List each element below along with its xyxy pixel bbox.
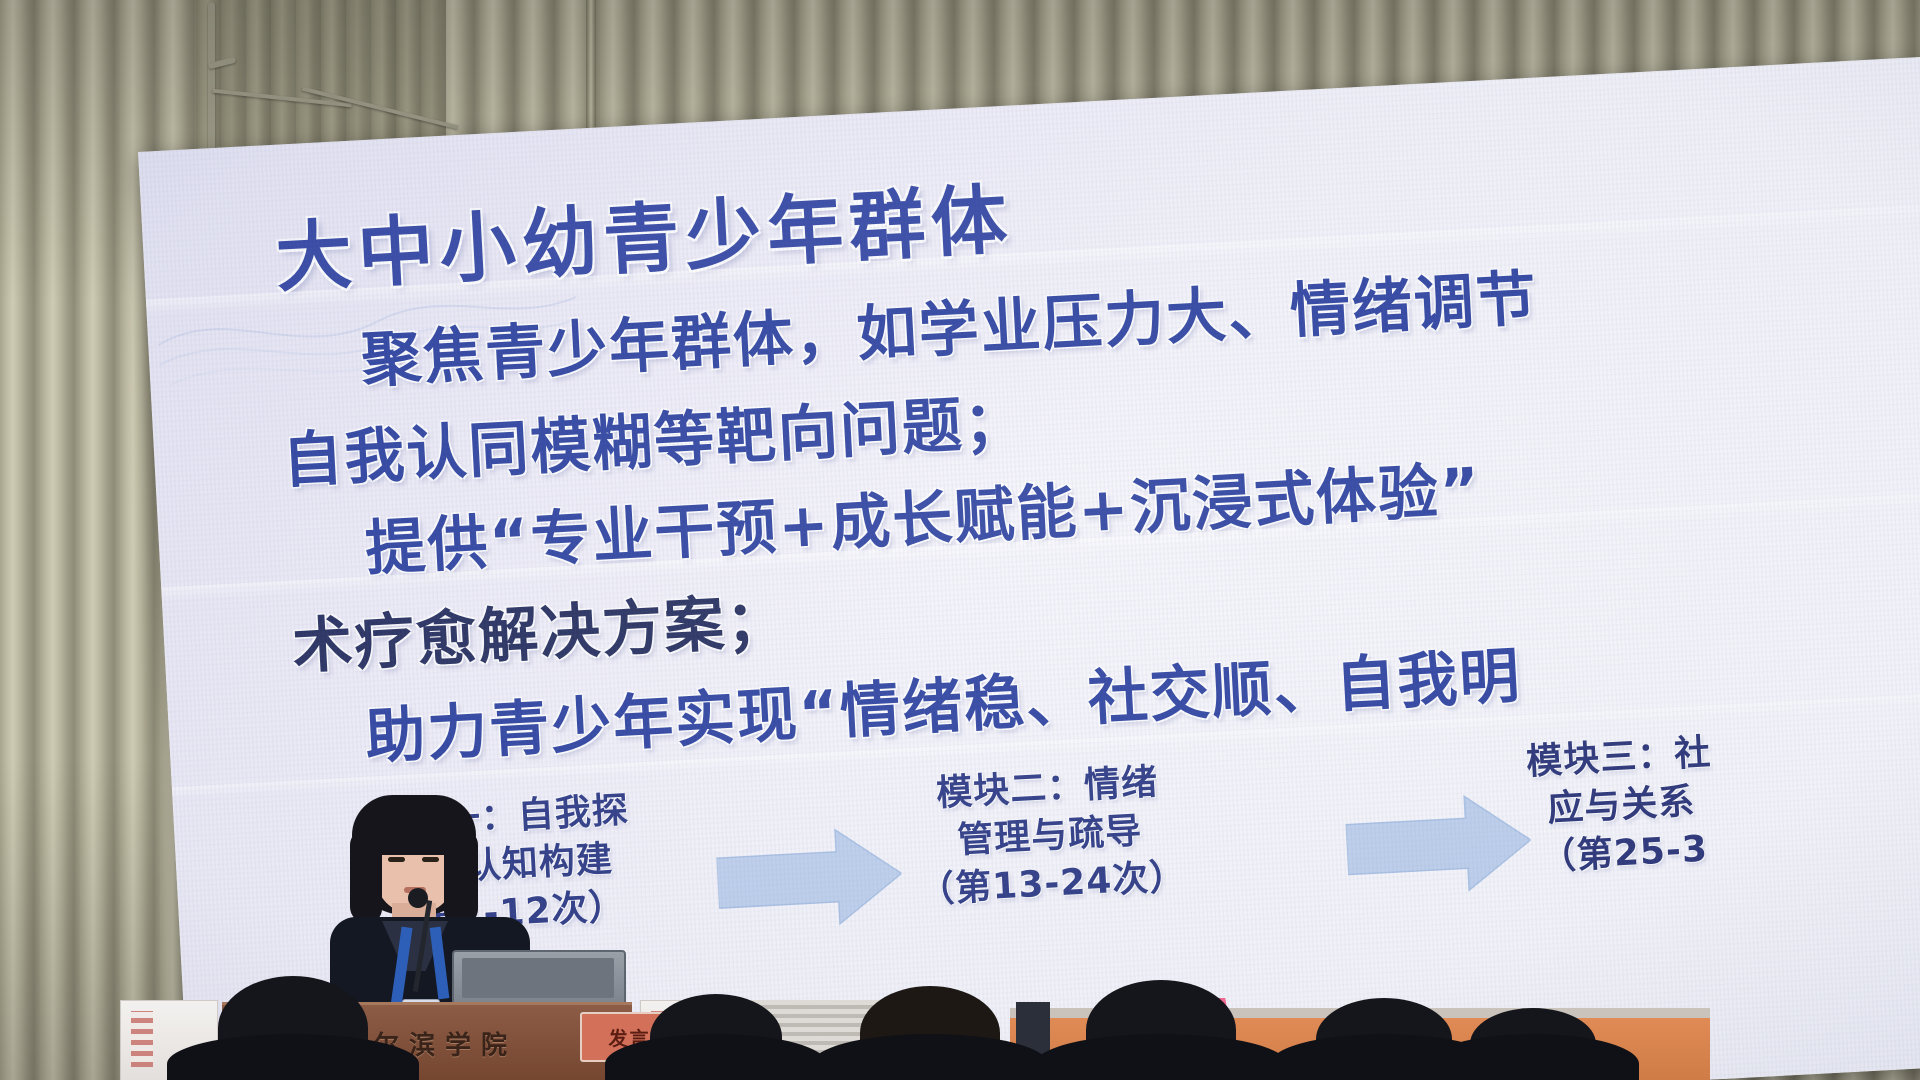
- module-3-sessions: （第25-3: [1530, 826, 1717, 884]
- module-card-2: 模块二：情绪 管理与疏导 （第13-24次）: [912, 757, 1187, 916]
- slide-content: 大中小幼青少年群体 聚焦青少年群体，如学业压力大、情绪调节 自我认同模糊等靶向问…: [138, 47, 1920, 1080]
- module-card-1: 模块一：自我探 索与认知构建 （第1-12次）: [369, 787, 635, 945]
- slide-body-line-4: 术疗愈解决方案；: [290, 572, 790, 685]
- arrow-right-icon: [715, 824, 904, 932]
- module-card-3: 模块三：社 应与关系 （第25-3: [1525, 729, 1717, 883]
- led-presentation-screen: 大中小幼青少年群体 聚焦青少年群体，如学业压力大、情绪调节 自我认同模糊等靶向问…: [138, 47, 1920, 1080]
- arrow-right-icon: [1344, 791, 1533, 899]
- screenshot-root: 大中小幼青少年群体 聚焦青少年群体，如学业压力大、情绪调节 自我认同模糊等靶向问…: [0, 0, 1920, 1080]
